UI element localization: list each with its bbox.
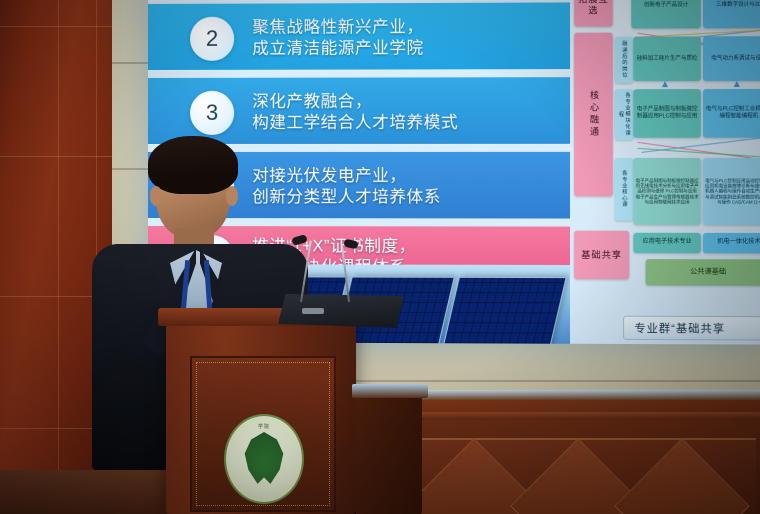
laptop: [278, 294, 404, 328]
side-label-modular-courses: 各专业模块化课程: [615, 89, 633, 140]
speaker-hair: [148, 136, 238, 194]
tier-label-extend: 拓展互选: [574, 0, 613, 27]
core-box-3a: 电子产品制图与制板微控制器应用无线电技术分析与应用电子产品检测与维修 PLC控制…: [633, 158, 701, 225]
item-number: 2: [190, 17, 234, 61]
stage-table: [356, 398, 760, 514]
core-box-1b: 电气动力系调试与设备: [703, 36, 760, 81]
floor: [0, 470, 170, 514]
tier-label-base: 基础共享: [574, 231, 629, 280]
institution-emblem: 学院: [224, 414, 304, 504]
stage-table-panel: [378, 438, 756, 514]
stage-table-post: [356, 390, 422, 514]
stage-table-post-cap: [352, 384, 428, 398]
core-box-1a: 硅料加工硅片生产与质检: [633, 36, 701, 81]
base-box-1: 应用电子技术专业: [633, 233, 701, 253]
podium: 学院: [166, 318, 356, 514]
item-line-1: 深化产教融合，: [252, 91, 458, 112]
item-line-1: 聚焦战略性新兴产业，: [252, 17, 423, 39]
speaker-ear-left: [150, 186, 162, 206]
laptop-logo: [302, 308, 324, 314]
item-text: 聚焦战略性新兴产业， 成立清洁能源产业学院: [252, 17, 423, 60]
side-label-core-courses: 各专业核心课: [615, 158, 633, 221]
speaker-ear-right: [226, 186, 238, 206]
conference-photo: 1 构建专业群服务框架体系 2 聚焦战略性新兴产业， 成立清洁能源产业学院 3 …: [0, 0, 760, 514]
item-number: 3: [190, 91, 234, 135]
emblem-leaf-icon: [241, 432, 287, 486]
base-box-2: 机电一体化技术: [703, 233, 760, 253]
emblem-label: 学院: [226, 423, 302, 430]
tier-label-core: 核心融通: [574, 33, 613, 197]
side-label-post-jobs: 融通后的岗位: [615, 37, 633, 84]
core-box-2a: 电子产品制图与制板微控制器应用PLC控制与应用: [633, 89, 701, 138]
base-common-box: 公共课基础: [646, 259, 760, 286]
core-box-3b: 电气与PLC控制应用运动控制技术应用机电设备故障诊断与维修工业机器人编程与操作自…: [703, 158, 760, 225]
list-item: 2 聚焦战略性新兴产业， 成立清洁能源产业学院: [148, 2, 570, 74]
item-text: 深化产教融合， 构建工学结合人才培养模式: [252, 91, 458, 134]
slide-caption: 专业群“基础共享: [623, 316, 760, 342]
core-box-2b: 电气与PLC控制工业机器人编程智能编程机: [703, 89, 760, 138]
extend-box-2: 三维数字设计与3D: [703, 0, 760, 28]
item-line-2: 成立清洁能源产业学院: [252, 38, 423, 60]
curriculum-diagram: 拓展互选 创新电子产品设计 三维数字设计与3D 核心融通 融通后的岗位 硅料加工…: [570, 0, 760, 345]
extend-box-1: 创新电子产品设计: [631, 0, 701, 29]
item-line-2: 构建工学结合人才培养模式: [252, 113, 458, 134]
